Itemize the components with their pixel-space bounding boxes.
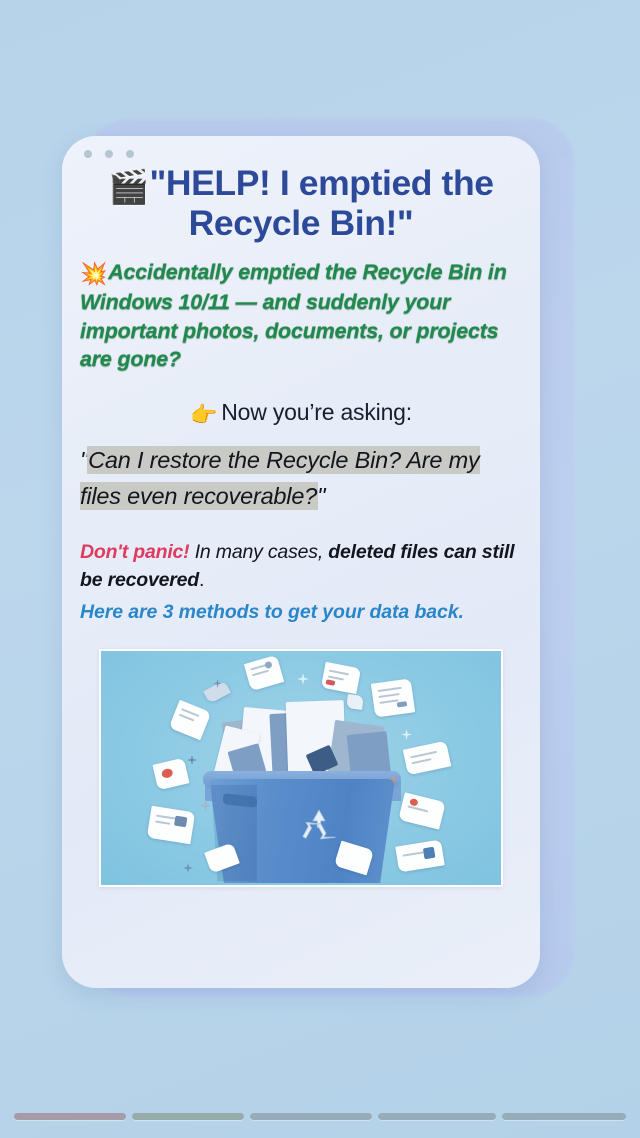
sparkle-icon [401,729,412,740]
methods-teaser-line: Here are 3 methods to get your data back… [80,599,528,627]
flying-paper [403,741,451,776]
pagination-segment[interactable] [14,1113,126,1120]
pagination-bar [0,1113,640,1120]
sparkle-icon [187,755,197,765]
pointing-right-hand-icon: 👉 [190,402,217,427]
flying-paper [398,792,446,829]
reassurance-period: . [199,569,204,591]
quote-highlighted-text: Can I restore the Recycle Bin? Are my fi… [80,447,480,508]
illustration-frame [99,649,503,887]
quote-close-mark: " [317,483,325,509]
flying-paper [152,758,189,791]
recycle-bin-illustration [101,651,501,885]
card-content: 🎬"HELP! I emptied the Recycle Bin!" 💥Acc… [62,164,540,887]
flying-paper [321,662,361,694]
flying-paper [346,694,364,710]
quote-open-mark: " [80,447,88,473]
pagination-segment[interactable] [502,1113,626,1120]
sparkle-icon [183,863,193,873]
pagination-segment[interactable] [250,1113,372,1120]
lead-paragraph: 💥Accidentally emptied the Recycle Bin in… [70,258,532,373]
user-quote: "Can I restore the Recycle Bin? Are my f… [70,443,532,514]
slide-stage: 🎬"HELP! I emptied the Recycle Bin!" 💥Acc… [0,0,640,1138]
collision-icon: 💥 [80,261,107,286]
sparkle-icon [297,673,309,685]
page-title: 🎬"HELP! I emptied the Recycle Bin!" [70,164,532,242]
headline-text: "HELP! I emptied the Recycle Bin!" [149,163,493,243]
reassurance-middle-text: In many cases, [189,541,328,563]
dont-panic-alert: Don't panic! [80,541,189,563]
pagination-segment[interactable] [378,1113,496,1120]
asking-line: 👉Now you’re asking: [70,399,532,428]
pagination-segment[interactable] [132,1113,244,1120]
flying-paper [371,678,415,717]
content-card: 🎬"HELP! I emptied the Recycle Bin!" 💥Acc… [62,136,540,988]
clapper-board-icon: 🎬 [108,168,149,205]
window-dot-minimize-icon[interactable] [105,150,113,158]
flying-paper [169,700,212,741]
flying-paper [244,655,284,691]
window-controls [84,150,134,158]
window-dot-maximize-icon[interactable] [126,150,134,158]
flying-paper [147,806,195,844]
recycle-symbol-icon [297,807,341,849]
flying-paper [395,840,445,873]
window-dot-close-icon[interactable] [84,150,92,158]
reassurance-paragraph: Don't panic! In many cases, deleted file… [70,539,532,627]
asking-line-text: Now you’re asking: [221,399,412,425]
lead-paragraph-text: Accidentally emptied the Recycle Bin in … [80,260,507,371]
